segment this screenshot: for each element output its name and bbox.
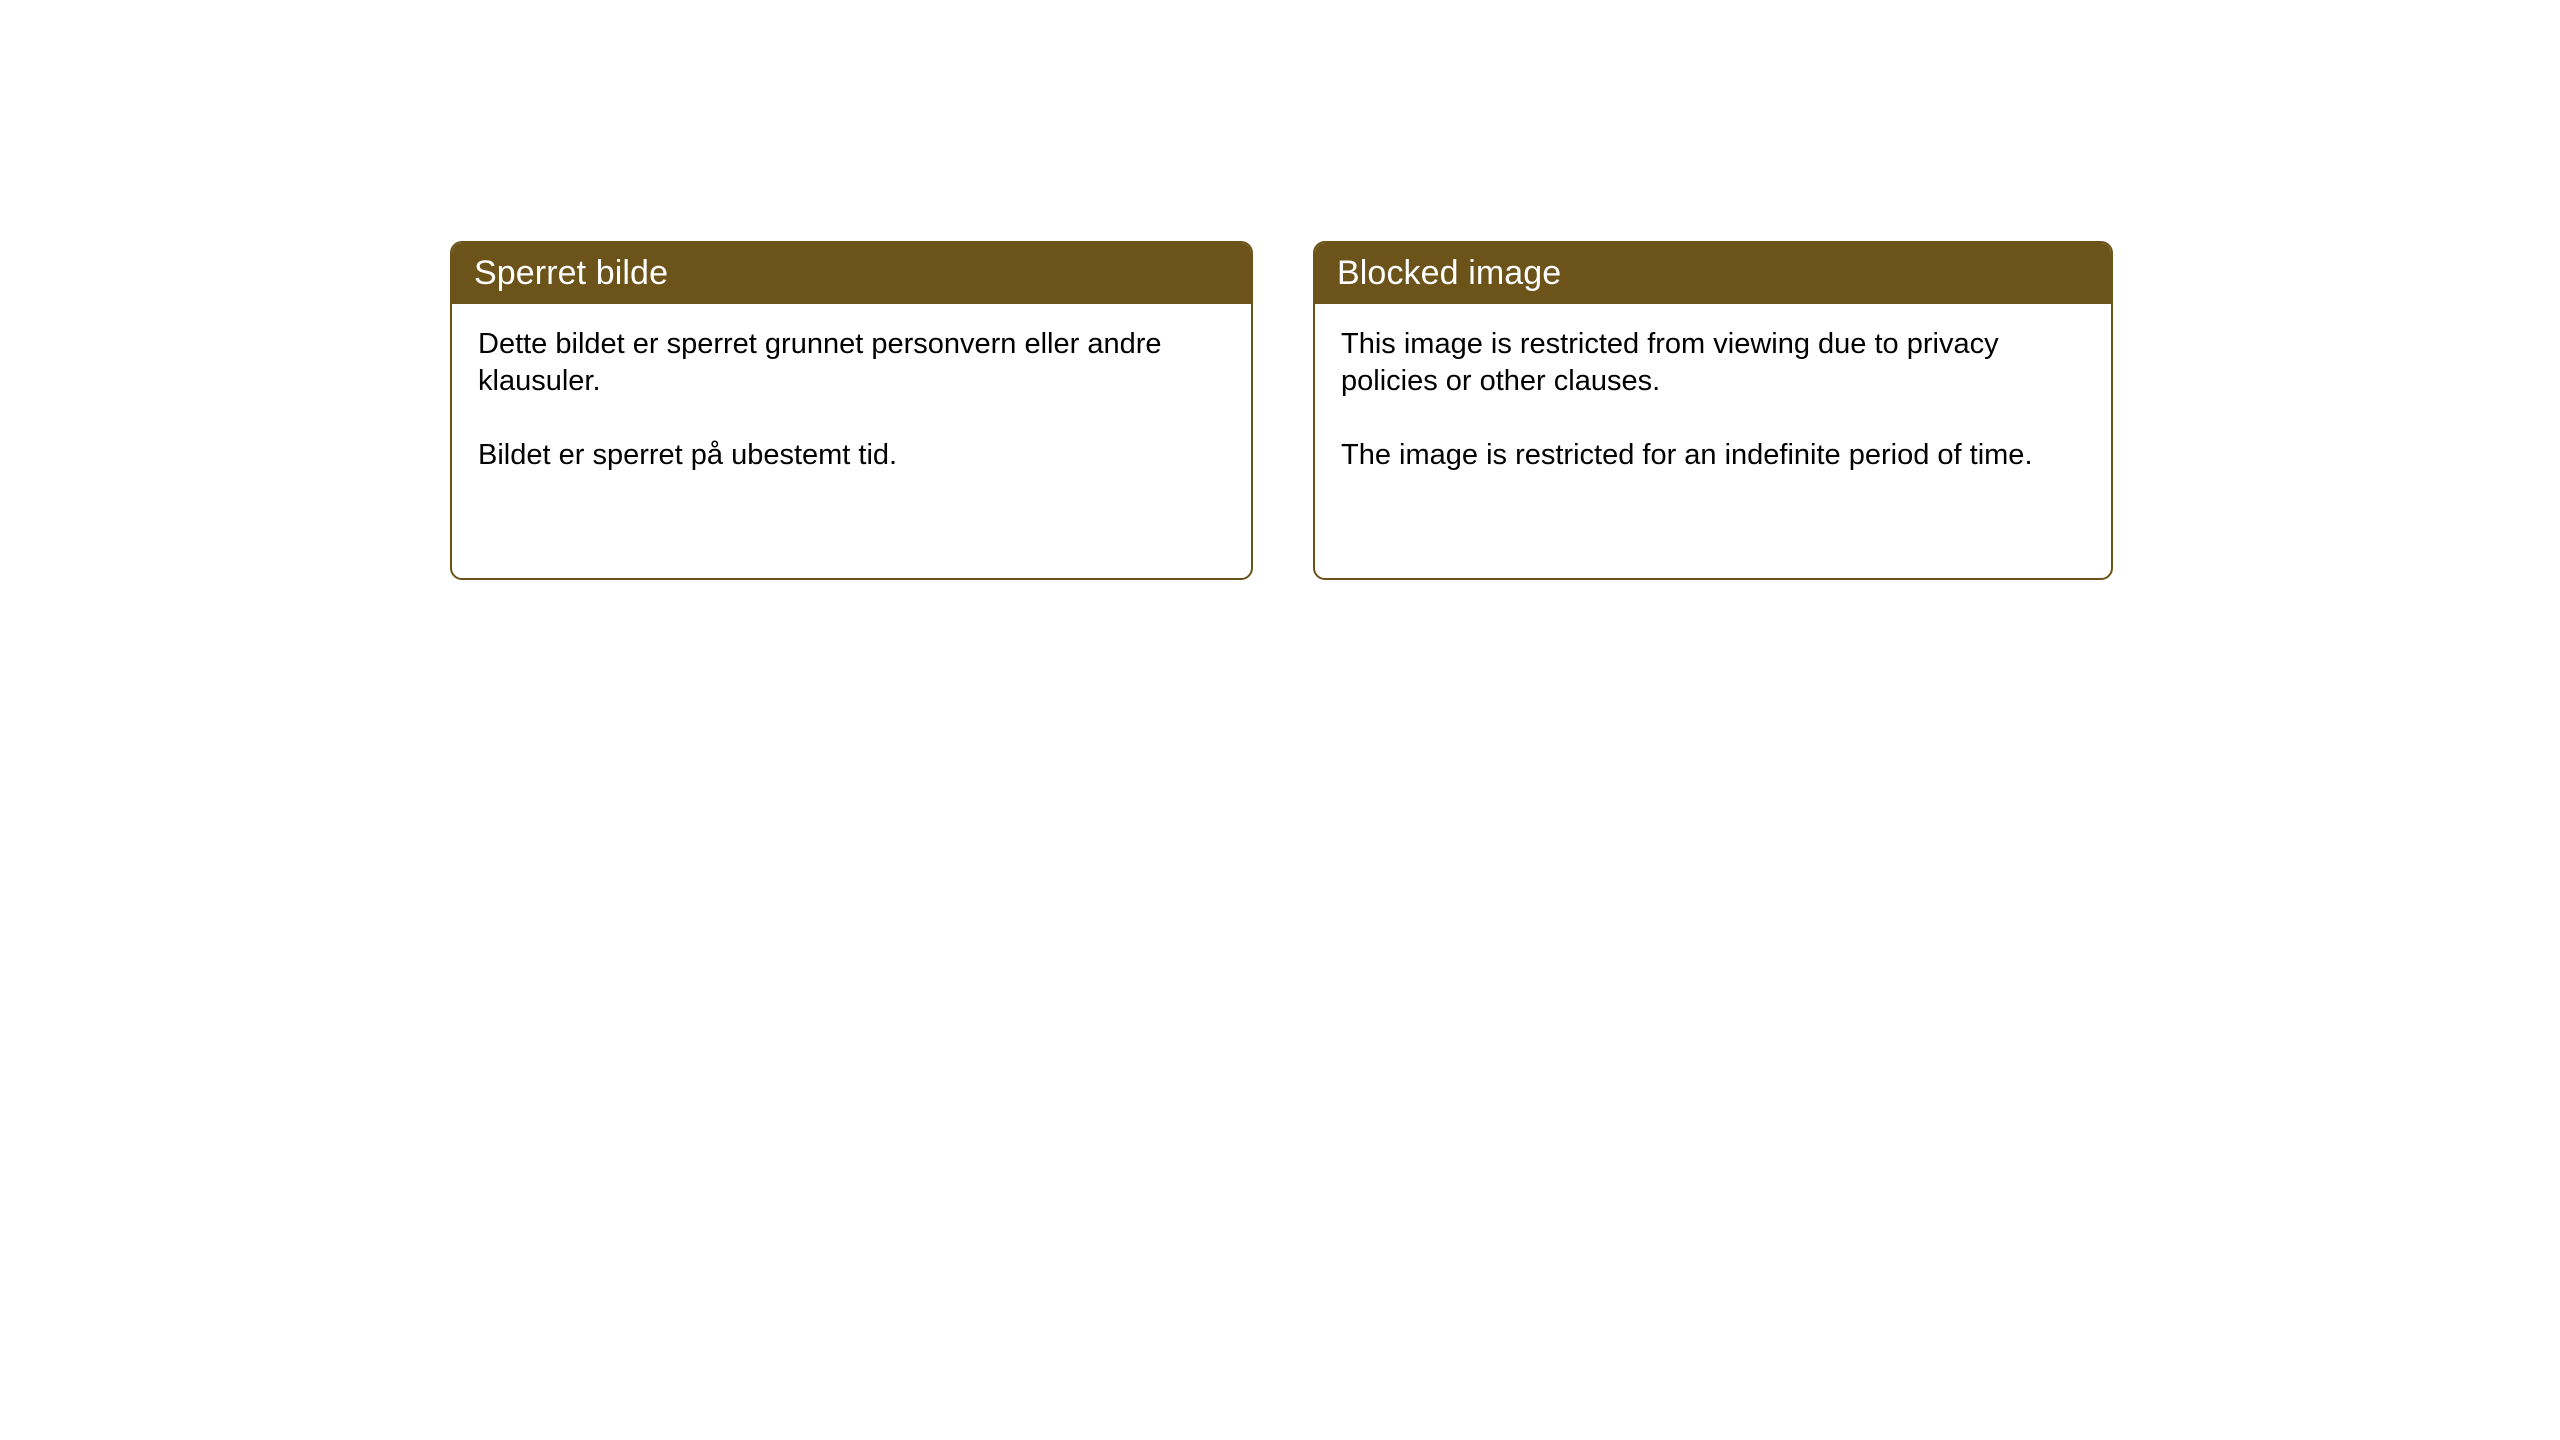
card-header-norwegian: Sperret bilde — [450, 241, 1253, 304]
blocked-image-card-english: Blocked image This image is restricted f… — [1313, 241, 2113, 580]
card-body-norwegian: Dette bildet er sperret grunnet personve… — [452, 304, 1251, 474]
blocked-image-card-norwegian: Sperret bilde Dette bildet er sperret gr… — [450, 241, 1253, 580]
card-header-english: Blocked image — [1313, 241, 2113, 304]
card-paragraph-reason-english: This image is restricted from viewing du… — [1341, 326, 2066, 400]
card-paragraph-duration-english: The image is restricted for an indefinit… — [1341, 437, 2066, 474]
card-title-english: Blocked image — [1337, 254, 1561, 292]
card-paragraph-duration-norwegian: Bildet er sperret på ubestemt tid. — [478, 437, 1198, 474]
page-root: Sperret bilde Dette bildet er sperret gr… — [0, 0, 2560, 1440]
card-body-english: This image is restricted from viewing du… — [1315, 304, 2111, 474]
card-paragraph-reason-norwegian: Dette bildet er sperret grunnet personve… — [478, 326, 1198, 400]
card-title-norwegian: Sperret bilde — [474, 254, 668, 292]
